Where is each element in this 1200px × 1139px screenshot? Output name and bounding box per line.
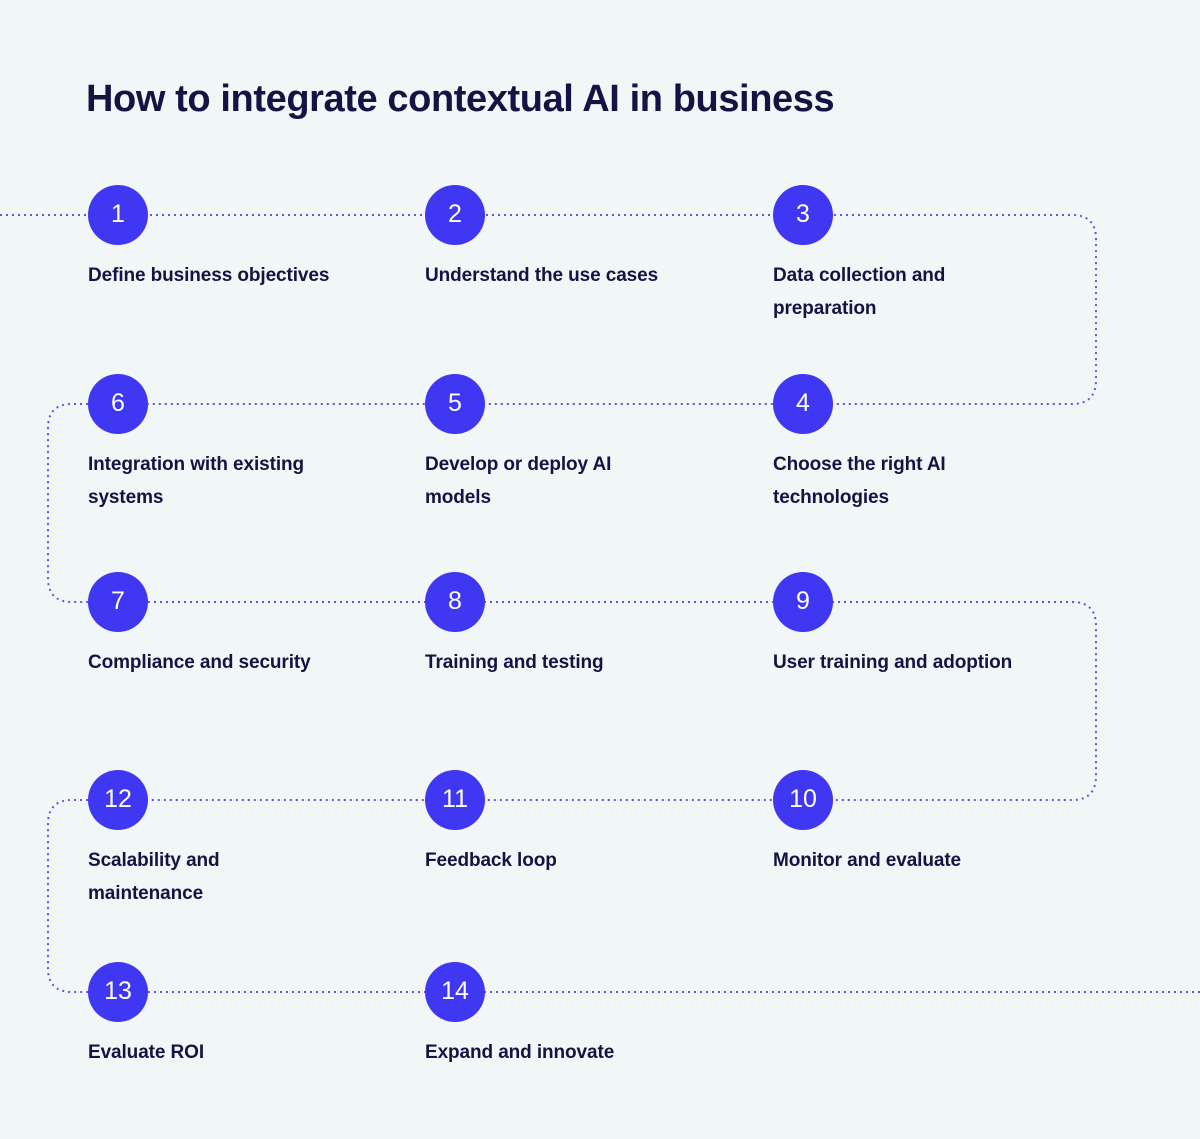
step-label: Define business objectives	[88, 259, 338, 292]
step-label: Develop or deploy AI models	[425, 448, 675, 514]
step-badge: 11	[425, 770, 485, 830]
step-label: Choose the right AI technologies	[773, 448, 1023, 514]
step-number: 2	[448, 202, 462, 227]
step-badge: 5	[425, 374, 485, 434]
step-number: 5	[448, 391, 462, 416]
step-label: Scalability and maintenance	[88, 844, 338, 910]
step-badge: 7	[88, 572, 148, 632]
step-badge: 6	[88, 374, 148, 434]
step-badge: 10	[773, 770, 833, 830]
step-number: 12	[104, 787, 132, 812]
step-number: 1	[111, 202, 125, 227]
page-title: How to integrate contextual AI in busine…	[86, 78, 834, 121]
step-number: 3	[796, 202, 810, 227]
step-number: 10	[789, 787, 817, 812]
step-number: 14	[441, 979, 469, 1004]
step-badge: 8	[425, 572, 485, 632]
step-number: 6	[111, 391, 125, 416]
step-label: Compliance and security	[88, 646, 338, 679]
step-number: 4	[796, 391, 810, 416]
step-badge: 12	[88, 770, 148, 830]
step-number: 8	[448, 589, 462, 614]
infographic-root: How to integrate contextual AI in busine…	[0, 0, 1200, 1139]
step-badge: 2	[425, 185, 485, 245]
step-label: Integration with existing systems	[88, 448, 338, 514]
step-number: 11	[442, 787, 468, 812]
step-badge: 13	[88, 962, 148, 1022]
step-number: 7	[111, 589, 125, 614]
step-badge: 1	[88, 185, 148, 245]
step-label: Monitor and evaluate	[773, 844, 1023, 877]
connector-row3	[118, 602, 1096, 800]
step-number: 13	[104, 979, 132, 1004]
step-badge: 4	[773, 374, 833, 434]
step-number: 9	[796, 589, 810, 614]
step-label: Feedback loop	[425, 844, 675, 877]
step-label: Expand and innovate	[425, 1036, 675, 1069]
step-label: Training and testing	[425, 646, 675, 679]
flow-connectors	[0, 0, 1200, 1139]
step-badge: 14	[425, 962, 485, 1022]
step-badge: 9	[773, 572, 833, 632]
step-badge: 3	[773, 185, 833, 245]
step-label: User training and adoption	[773, 646, 1023, 679]
step-label: Evaluate ROI	[88, 1036, 338, 1069]
step-label: Understand the use cases	[425, 259, 675, 292]
step-label: Data collection and preparation	[773, 259, 1023, 325]
